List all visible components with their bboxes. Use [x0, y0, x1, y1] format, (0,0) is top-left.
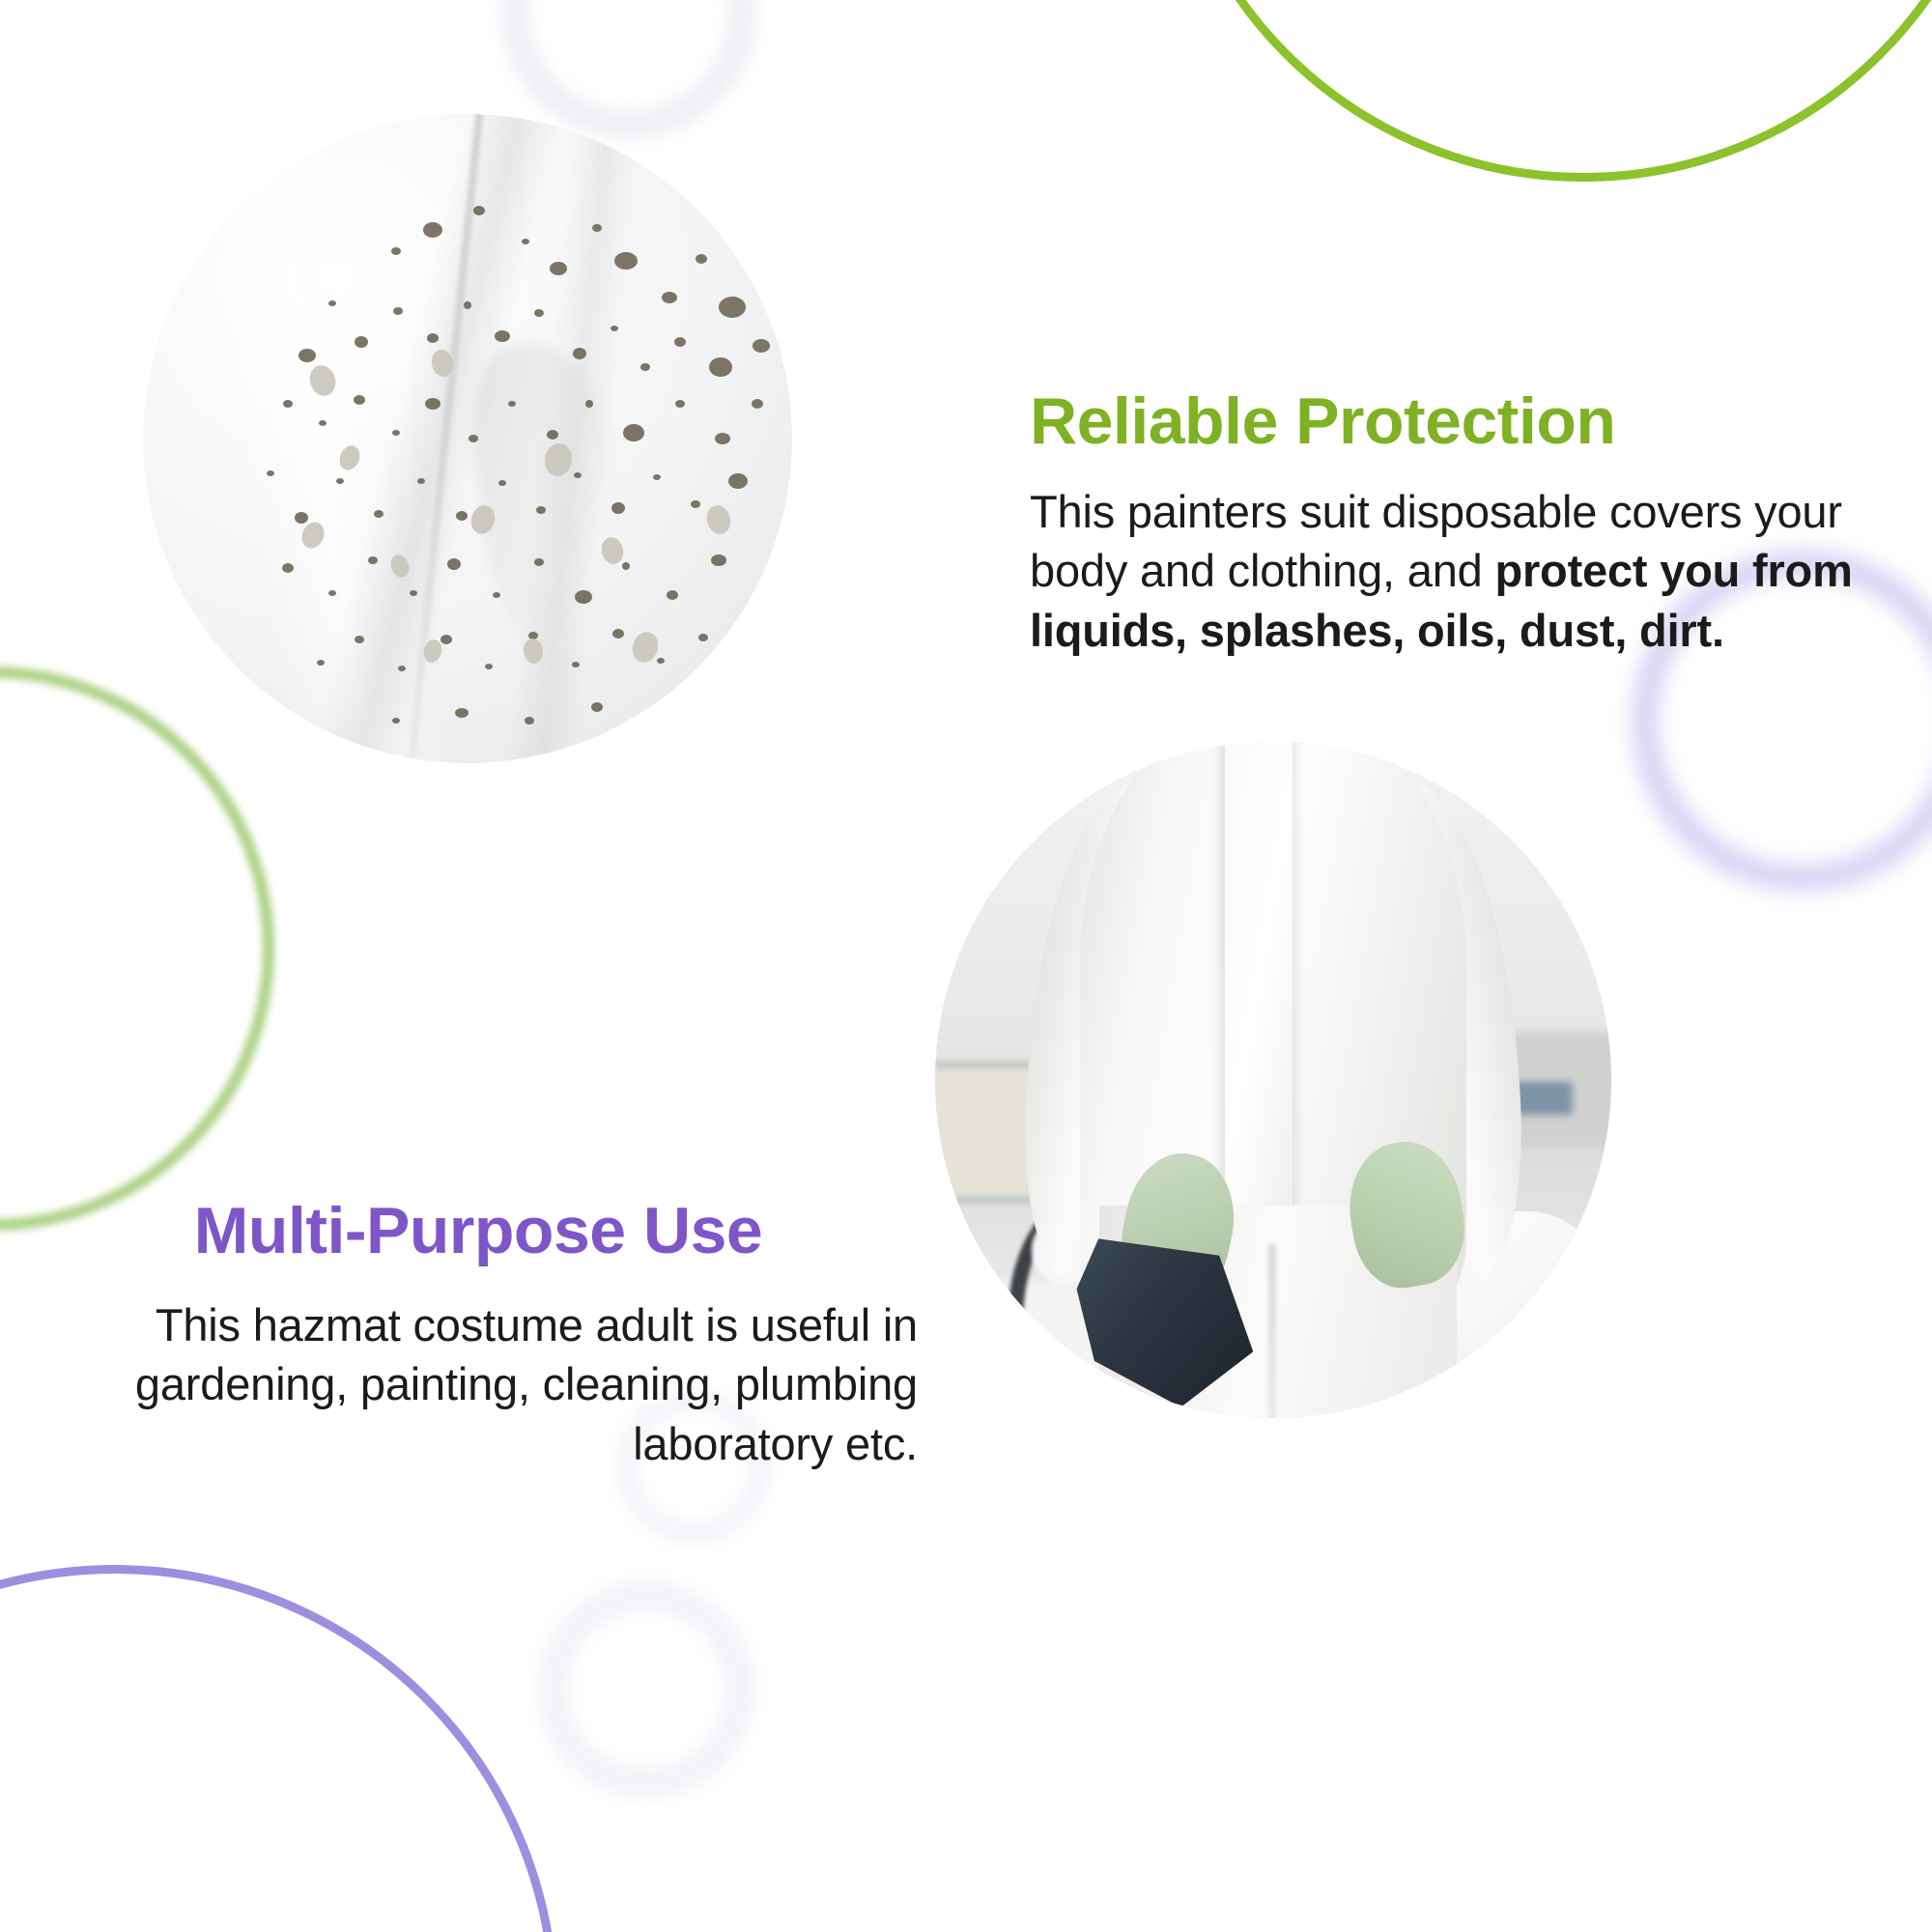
multi-purpose-use-section: Multi-Purpose Use This hazmat costume ad… [39, 1198, 918, 1473]
suit-front-placket [1225, 742, 1293, 1254]
reliable-protection-body: This painters suit disposable covers you… [1030, 482, 1899, 659]
gray-bubble-middle-icon [541, 1584, 752, 1795]
multi-purpose-use-heading: Multi-Purpose Use [39, 1198, 918, 1264]
infographic-canvas: Reliable Protection This painters suit d… [0, 0, 1932, 1932]
reliable-protection-heading: Reliable Protection [1030, 388, 1899, 455]
purple-ring-bottom-left-icon [0, 1565, 558, 1932]
dirt-droplets-overlay [143, 114, 792, 763]
multi-purpose-use-body: This hazmat costume adult is useful in g… [39, 1295, 918, 1472]
green-ring-top-right-icon [1159, 0, 1932, 182]
suit-leg-seam [1268, 1244, 1276, 1418]
reliable-protection-section: Reliable Protection This painters suit d… [1030, 388, 1899, 660]
person-in-hazmat-suit-photo [935, 742, 1611, 1418]
fabric-droplets-photo [143, 114, 792, 763]
